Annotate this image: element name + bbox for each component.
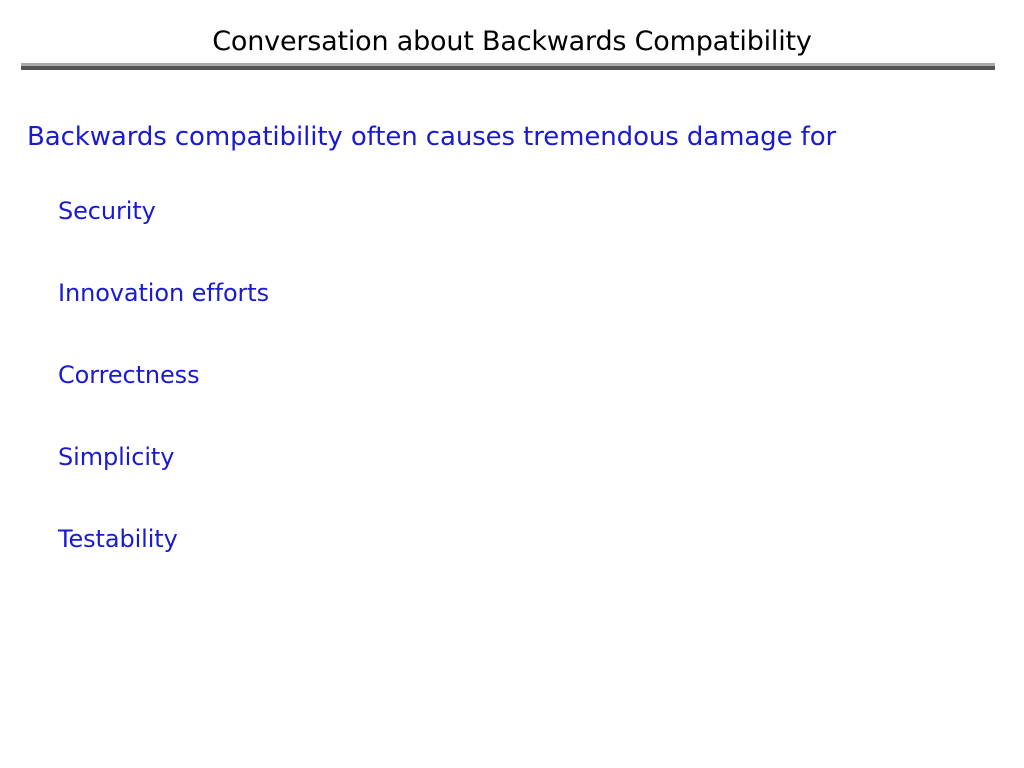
list-item: Simplicity xyxy=(58,442,269,524)
list-item: Security xyxy=(58,196,269,278)
list-item-label: Innovation efforts xyxy=(58,278,269,308)
list-item: Innovation efforts xyxy=(58,278,269,360)
list-item-label: Correctness xyxy=(58,360,269,390)
list-item-label: Security xyxy=(58,196,269,226)
lead-statement: Backwards compatibility often causes tre… xyxy=(27,120,836,154)
list-item-label: Testability xyxy=(58,524,269,554)
slide-body: Backwards compatibility often causes tre… xyxy=(0,0,1024,698)
list-item-label: Simplicity xyxy=(58,442,269,472)
list-item: Testability xyxy=(58,524,269,606)
list-item: Correctness xyxy=(58,360,269,442)
impact-list: Security Innovation efforts Correctness … xyxy=(58,196,269,606)
slide: Conversation about Backwards Compatibili… xyxy=(0,0,1024,768)
